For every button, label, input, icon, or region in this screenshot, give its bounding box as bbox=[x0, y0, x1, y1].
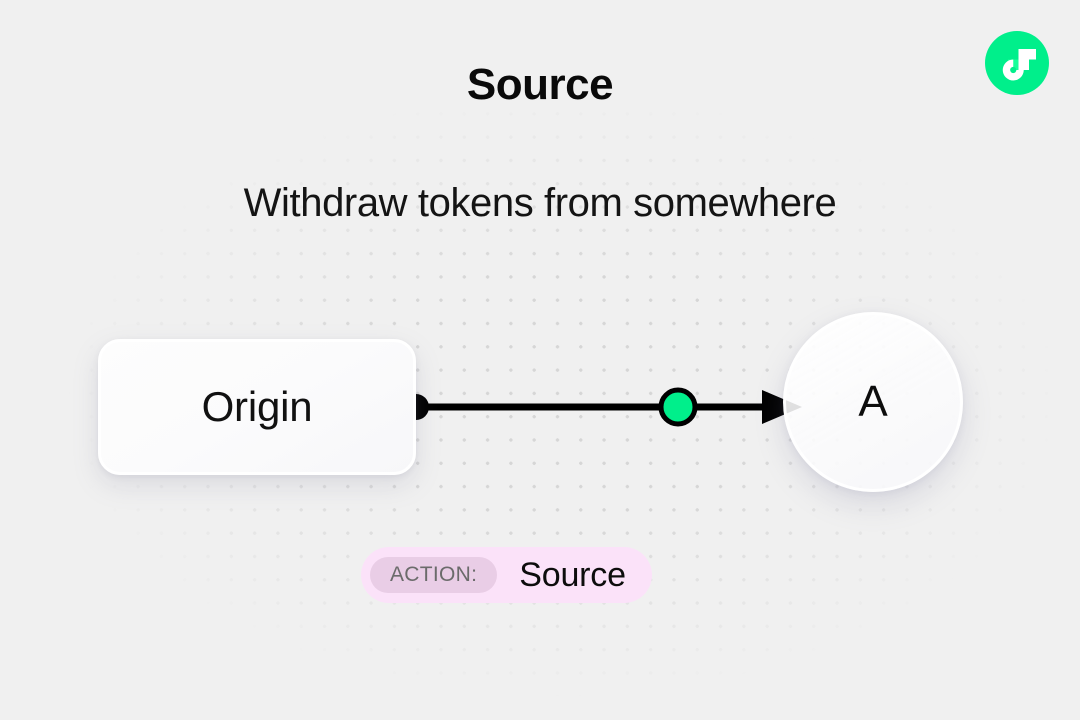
action-badge[interactable]: ACTION: Source bbox=[361, 547, 652, 603]
node-a[interactable]: A bbox=[783, 312, 963, 492]
edge-token-dot bbox=[661, 390, 695, 424]
node-a-label: A bbox=[858, 377, 887, 427]
node-origin-label: Origin bbox=[202, 383, 313, 431]
node-origin[interactable]: Origin bbox=[98, 339, 416, 475]
action-badge-key: ACTION: bbox=[370, 557, 497, 593]
action-badge-value: Source bbox=[519, 558, 626, 592]
flow-diagram: Origin A bbox=[0, 0, 1080, 720]
